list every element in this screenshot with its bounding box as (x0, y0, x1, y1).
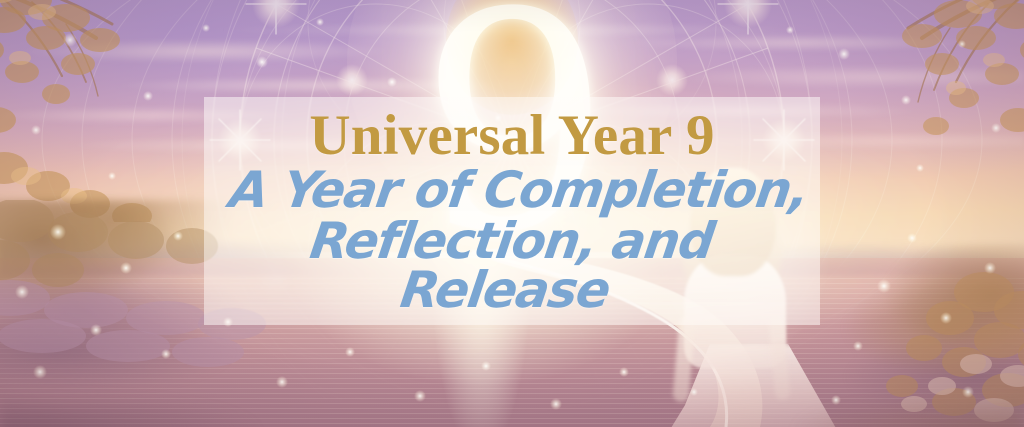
universal-year-9-banner: 9 (0, 0, 1024, 427)
page-title: Universal Year 9 (204, 103, 820, 168)
page-subtitle: A Year of Completion, Reflection, and Re… (194, 166, 831, 315)
subtitle-line-2: Reflection, and Release (194, 217, 824, 315)
subtitle-line-1: A Year of Completion, (226, 161, 812, 219)
